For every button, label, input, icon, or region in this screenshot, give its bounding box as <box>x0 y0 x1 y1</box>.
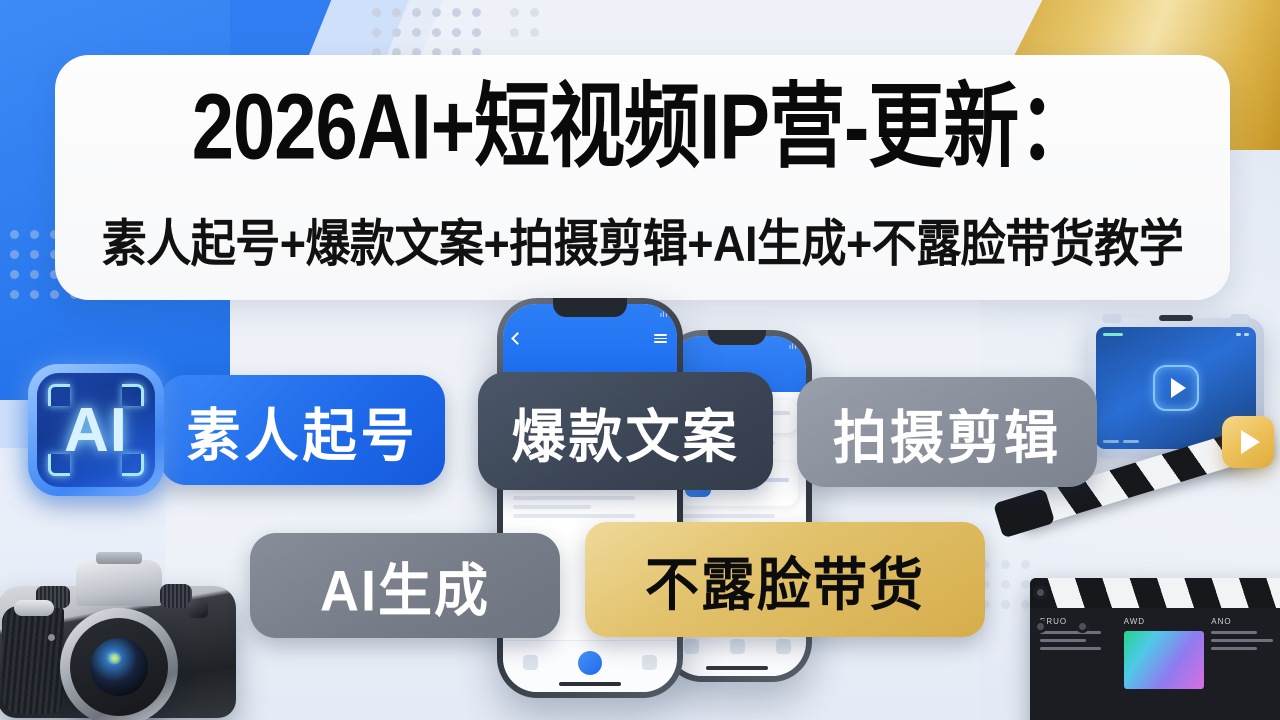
tablet-top-nub-icon <box>1159 315 1193 321</box>
feature-pill-label: 拍摄剪辑 <box>833 390 1061 474</box>
placeholder-line <box>513 514 635 518</box>
dslr-camera-icon <box>0 548 242 720</box>
feature-pill-bulolian-daihuo[interactable]: 不露脸带货 <box>585 522 985 637</box>
clapperboard-field-label: ANO <box>1211 617 1280 626</box>
feature-pill-ai-shengcheng[interactable]: AI生成 <box>250 533 560 638</box>
dot-grid-top-right-small <box>510 8 539 37</box>
clapperboard-stripe <box>1030 578 1280 608</box>
scan-corner-icon <box>122 454 144 476</box>
back-arrow-icon <box>511 332 524 345</box>
tab-icon <box>523 655 538 670</box>
status-bar-icon: ıll <box>789 344 797 351</box>
phone-notch-icon <box>708 330 766 345</box>
camera-top-knob <box>14 600 54 616</box>
menu-icon <box>654 334 667 343</box>
camera-viewfinder-window <box>188 600 208 618</box>
tab-icon <box>776 639 791 654</box>
camera-grip <box>2 606 64 714</box>
title-card: 2026AI+短视频IP营-更新： 素人起号+爆款文案+拍摄剪辑+AI生成+不露… <box>55 55 1230 300</box>
camera-lens-barrel <box>70 618 168 716</box>
tablet-status-icon <box>1236 333 1249 336</box>
placeholder-line <box>678 514 775 518</box>
camera-lens-glass <box>90 638 148 696</box>
placeholder-line <box>513 496 635 500</box>
camera-lens <box>60 608 178 720</box>
feature-pill-paishe-jianji[interactable]: 拍摄剪辑 <box>797 377 1097 487</box>
page-title: 2026AI+短视频IP营-更新： <box>55 79 1230 176</box>
tab-icon <box>684 639 699 654</box>
home-indicator <box>559 682 621 686</box>
scan-corner-icon <box>122 384 144 406</box>
feature-pill-label: 不露脸带货 <box>645 538 925 622</box>
feature-pill-baokuan-wenan[interactable]: 爆款文案 <box>478 372 773 490</box>
tab-icon <box>730 639 745 654</box>
clapperboard-hinge <box>1076 620 1089 633</box>
feature-pill-label: 爆款文案 <box>512 389 740 473</box>
feature-pill-label: 素人起号 <box>187 388 419 472</box>
clapperboard-fields: ERUO AWD ANO <box>1030 608 1280 698</box>
placeholder-line <box>513 505 591 509</box>
page-subtitle: 素人起号+爆款文案+拍摄剪辑+AI生成+不露脸带货教学 <box>55 203 1230 276</box>
tablet-ear-icon <box>1230 314 1250 323</box>
clapperboard-field: AWD <box>1124 617 1205 689</box>
camera-indicator <box>48 634 55 641</box>
clapperboard-field-label: AWD <box>1124 617 1205 626</box>
dot-grid-top-right <box>372 8 481 57</box>
clapperboard-thumbnail <box>1124 631 1205 689</box>
ai-badge-inner: AI <box>37 373 155 487</box>
smartphone-mockup-front: ıll <box>497 298 683 698</box>
tab-icon <box>642 655 657 670</box>
clapperboard-body: ERUO AWD ANO <box>1030 578 1280 720</box>
clapperboard-field: ANO <box>1211 617 1280 689</box>
clapperboard-hinge <box>1034 586 1047 599</box>
home-indicator <box>706 666 768 670</box>
tablet-indicator-icon <box>1103 333 1123 336</box>
feature-pill-label: AI生成 <box>320 544 490 628</box>
play-button-badge <box>1222 416 1274 468</box>
scan-corner-icon <box>48 454 70 476</box>
tab-record-icon <box>578 651 602 675</box>
tablet-caption-line <box>1103 440 1139 443</box>
camera-lens-flare <box>107 653 123 664</box>
ai-badge-label: AI <box>64 395 128 466</box>
camera-hotshoe <box>96 552 142 564</box>
poster-canvas: 2026AI+短视频IP营-更新： 素人起号+爆款文案+拍摄剪辑+AI生成+不露… <box>0 0 1280 720</box>
tablet-ear-icon <box>1102 314 1122 323</box>
camera-prism <box>76 560 162 606</box>
clapperboard-icon: ERUO AWD ANO <box>1000 496 1280 720</box>
status-bar-icon: ıll <box>660 312 668 319</box>
ai-scan-badge-icon: AI <box>28 364 164 496</box>
scan-corner-icon <box>48 384 70 406</box>
clapperboard-hinge <box>1034 620 1047 633</box>
phone-notch-icon <box>553 298 627 317</box>
play-icon <box>1153 365 1199 411</box>
feature-pill-suren-qihao[interactable]: 素人起号 <box>160 375 445 485</box>
